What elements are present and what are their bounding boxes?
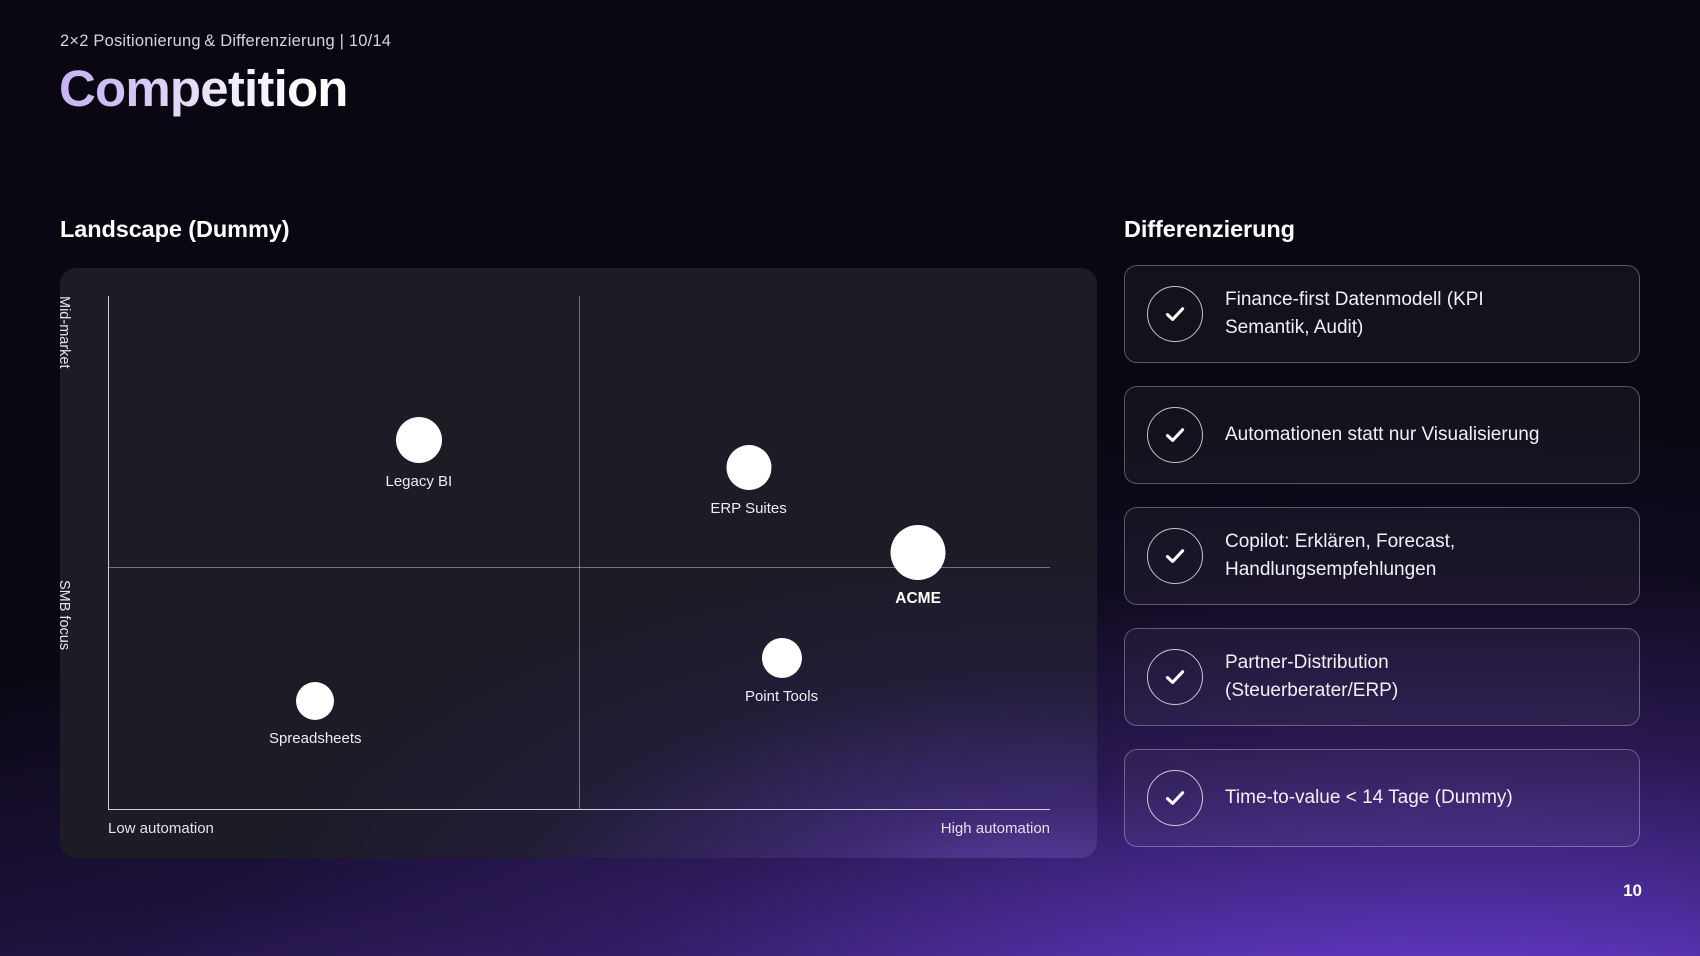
chart-y-axis-label-low: SMB focus	[60, 580, 72, 650]
chart-quadrant-vertical-divider	[579, 296, 580, 809]
chart-point-dot	[726, 445, 771, 490]
differentiation-item-label: Copilot: Erklären, Forecast, Handlungsem…	[1225, 528, 1455, 583]
differentiation-item[interactable]: Copilot: Erklären, Forecast, Handlungsem…	[1124, 507, 1640, 605]
chart-x-axis-line	[108, 809, 1050, 810]
differentiation-item-label: Partner-Distribution (Steuerberater/ERP)	[1225, 649, 1398, 704]
section-heading-landscape: Landscape (Dummy)	[60, 216, 289, 243]
chart-x-axis-label-low: Low automation	[108, 820, 214, 837]
chart-y-axis-label-high: Mid-market	[60, 296, 72, 369]
differentiation-item[interactable]: Automationen statt nur Visualisierung	[1124, 386, 1640, 484]
chart-point-label: ACME	[895, 590, 941, 608]
check-circle-icon	[1147, 286, 1203, 342]
check-circle-icon	[1147, 649, 1203, 705]
landscape-chart-card: Mid-market SMB focus Low automation High…	[60, 268, 1097, 858]
chart-y-axis-line	[108, 296, 109, 809]
check-circle-icon	[1147, 407, 1203, 463]
differentiation-item-label: Automationen statt nur Visualisierung	[1225, 421, 1539, 449]
page-number: 10	[1623, 881, 1642, 901]
check-circle-icon	[1147, 528, 1203, 584]
chart-point-label: Point Tools	[745, 688, 818, 705]
slide-stage: 2×2 Positionierung & Differenzierung | 1…	[0, 0, 1700, 956]
chart-x-axis-label-high: High automation	[941, 820, 1050, 837]
differentiation-list: Finance-first Datenmodell (KPI Semantik,…	[1124, 265, 1640, 870]
differentiation-item-label: Time-to-value < 14 Tage (Dummy)	[1225, 784, 1513, 812]
check-circle-icon	[1147, 770, 1203, 826]
page-title: Competition	[59, 59, 348, 118]
chart-point-dot	[762, 638, 802, 678]
slide-eyebrow: 2×2 Positionierung & Differenzierung | 1…	[60, 32, 391, 51]
differentiation-item[interactable]: Finance-first Datenmodell (KPI Semantik,…	[1124, 265, 1640, 363]
chart-point-label: Legacy BI	[386, 473, 453, 490]
differentiation-item[interactable]: Time-to-value < 14 Tage (Dummy)	[1124, 749, 1640, 847]
chart-point-dot	[296, 682, 334, 720]
differentiation-item-label: Finance-first Datenmodell (KPI Semantik,…	[1225, 286, 1484, 341]
chart-point-dot	[396, 417, 442, 463]
chart-point-dot	[891, 525, 946, 580]
chart-point-label: ERP Suites	[710, 500, 786, 517]
section-heading-differenzierung: Differenzierung	[1124, 216, 1295, 243]
differentiation-item[interactable]: Partner-Distribution (Steuerberater/ERP)	[1124, 628, 1640, 726]
chart-point-label: Spreadsheets	[269, 730, 362, 747]
